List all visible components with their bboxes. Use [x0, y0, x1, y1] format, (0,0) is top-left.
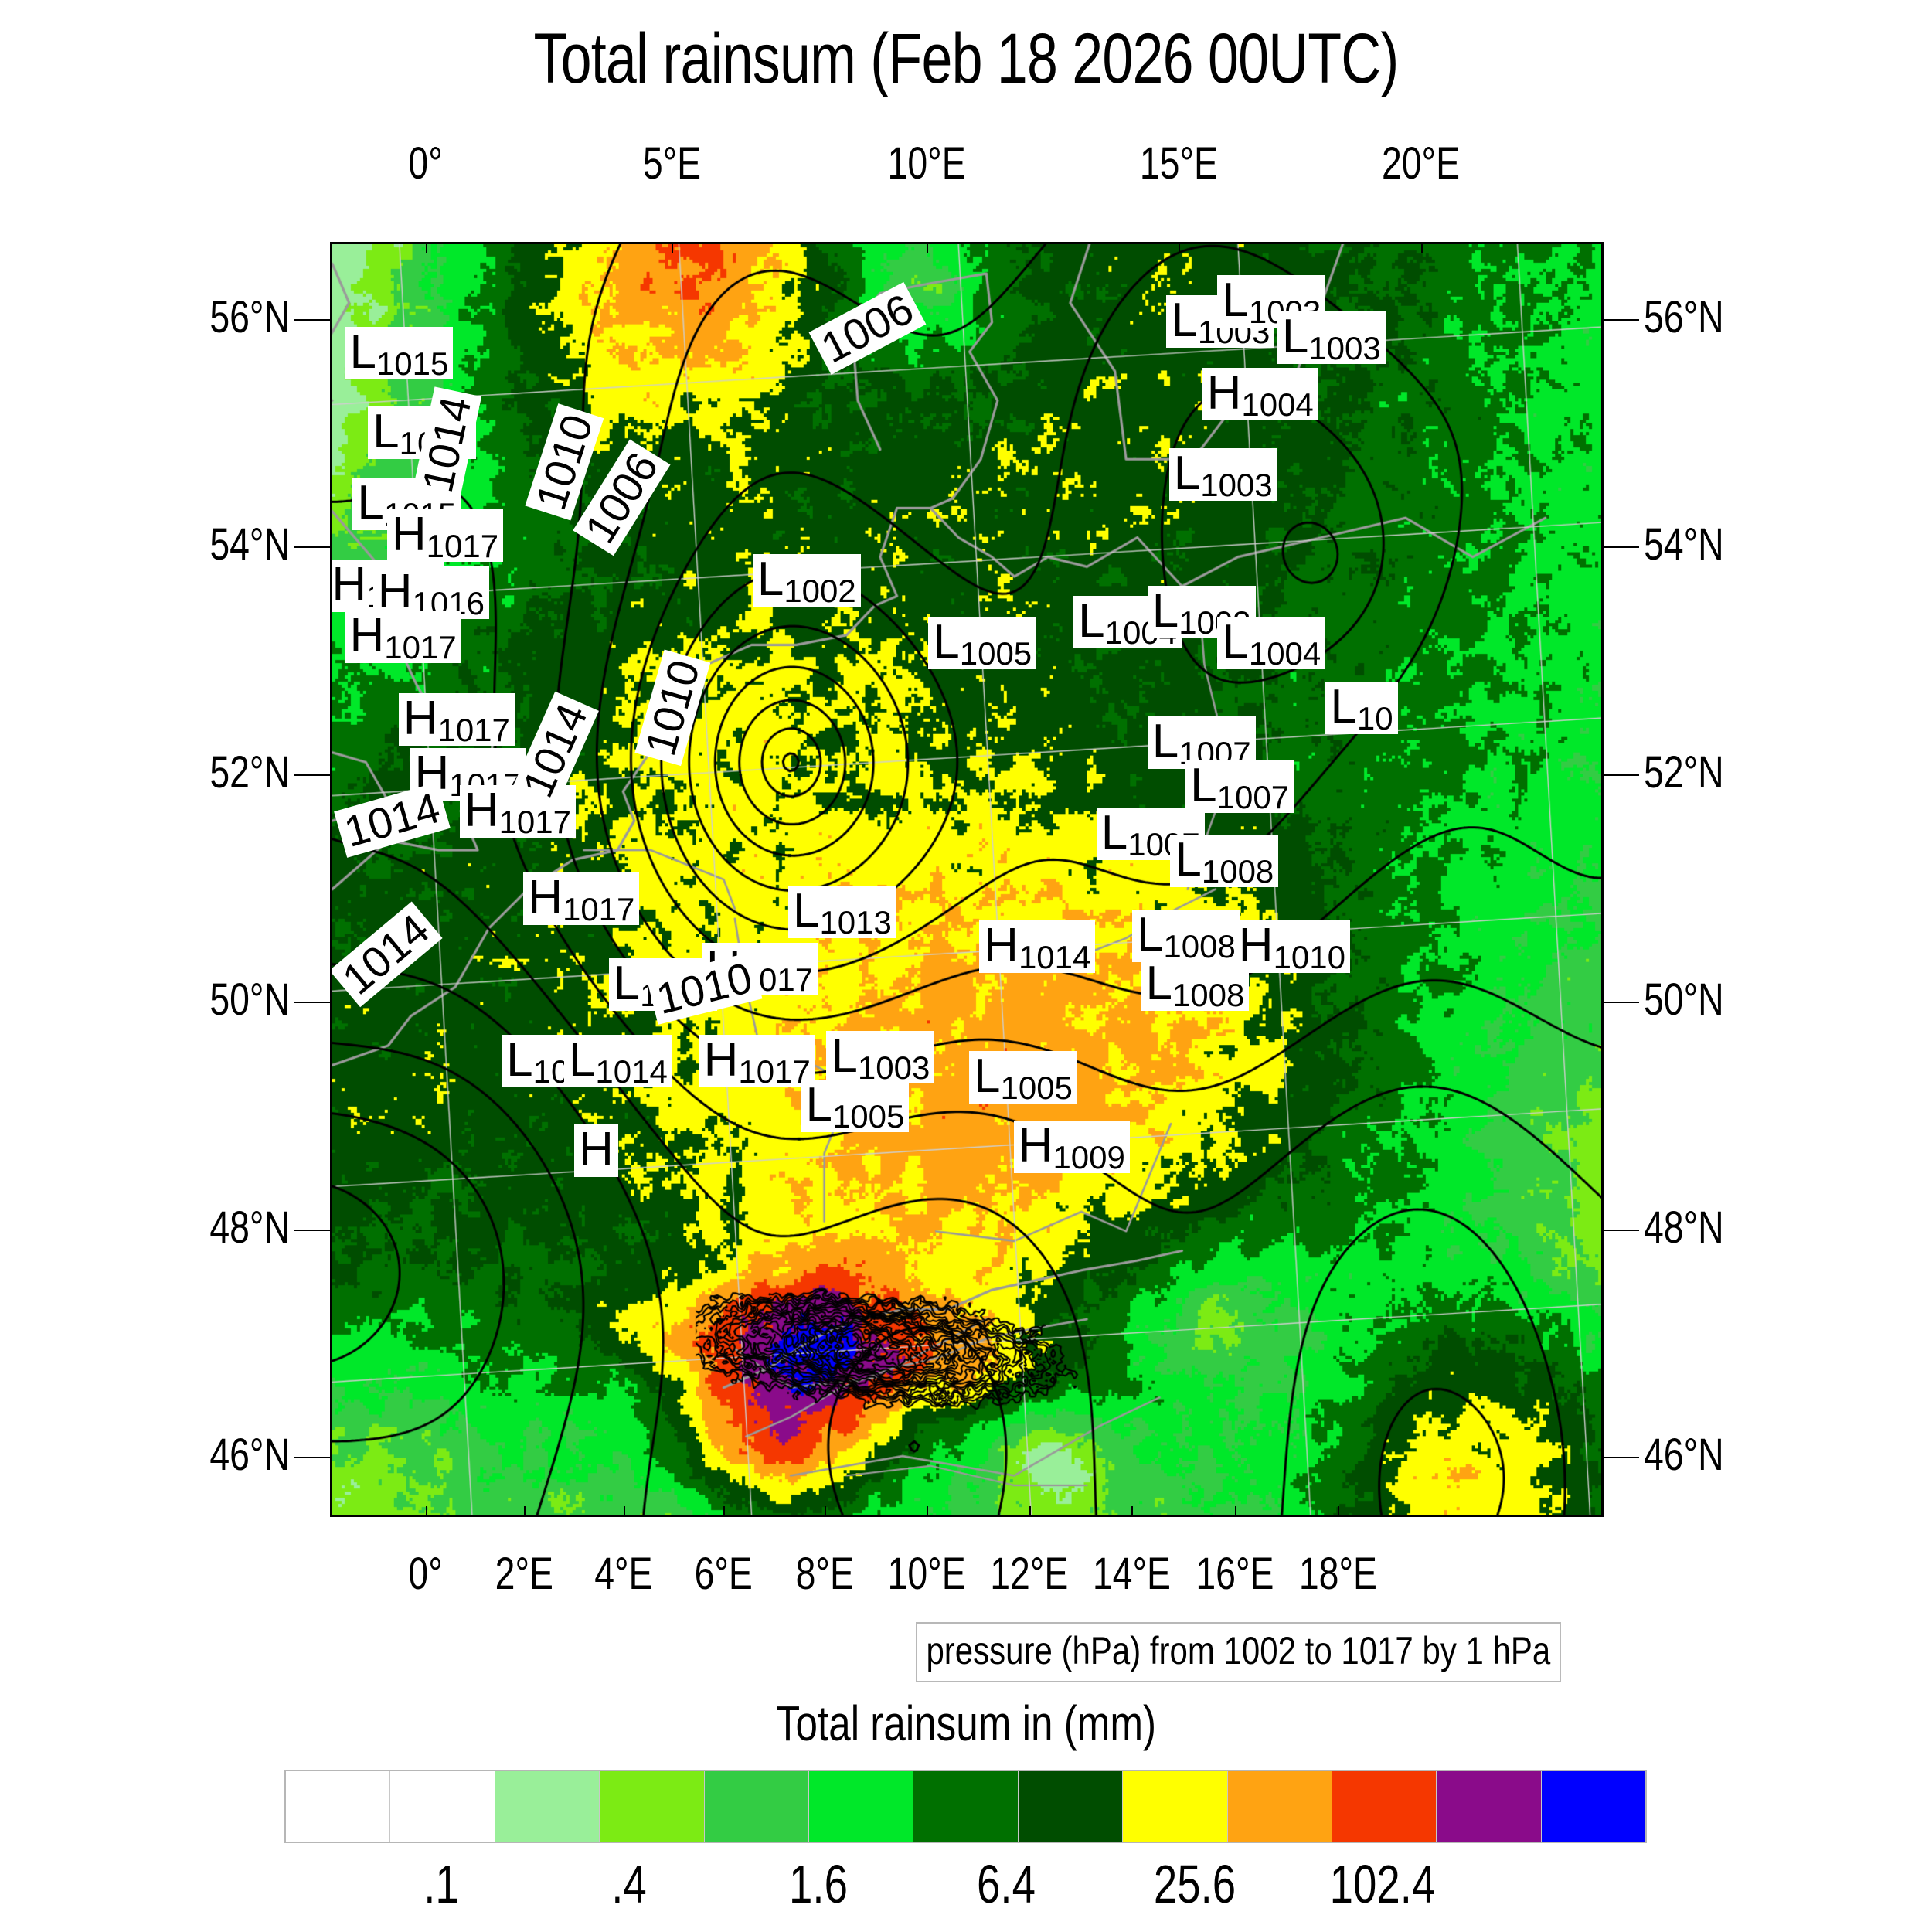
pressure-center-type: L	[1175, 833, 1201, 886]
pressure-center-h-19: H1014	[979, 920, 1095, 973]
pressure-center-type: H	[704, 1033, 739, 1087]
pressure-center-h-10: H1017	[523, 872, 639, 925]
tick-mark	[294, 1002, 330, 1003]
page-title: Total rainsum (Feb 18 2026 00UTC)	[213, 22, 1719, 97]
pressure-center-value: 1003	[1308, 330, 1380, 366]
lat-tick-left-1: 54°N	[58, 519, 290, 570]
pressure-center-l-0: L1015	[345, 327, 453, 379]
pressure-center-type: L	[1222, 615, 1248, 668]
pressure-center-value: 1015	[376, 345, 448, 382]
lat-tick-left-4: 48°N	[58, 1202, 290, 1253]
colorbar-cell-11[interactable]	[1437, 1771, 1541, 1842]
pressure-center-type: L	[1152, 715, 1179, 768]
pressure-center-l-22: L1005	[969, 1051, 1077, 1104]
pressure-center-value: 1005	[832, 1098, 904, 1134]
colorbar-cell-5[interactable]	[809, 1771, 913, 1842]
colorbar-cell-7[interactable]	[1019, 1771, 1123, 1842]
pressure-center-l-27: L1003	[1277, 311, 1386, 364]
pressure-center-type: H	[464, 784, 499, 837]
tick-mark	[927, 242, 928, 253]
tick-mark	[426, 1506, 427, 1517]
pressure-center-value: 1017	[499, 804, 571, 840]
tick-mark	[1604, 1230, 1639, 1231]
lat-tick-left-2: 52°N	[58, 747, 290, 798]
pressure-center-type: H	[1239, 919, 1274, 972]
colorbar-cell-6[interactable]	[913, 1771, 1018, 1842]
pressure-center-h-18: H1017	[699, 1035, 815, 1087]
tick-mark	[1604, 546, 1639, 548]
pressure-center-type: H	[1019, 1119, 1053, 1172]
tick-mark	[1604, 1002, 1639, 1003]
tick-mark	[927, 1506, 928, 1517]
colorbar-cell-2[interactable]	[495, 1771, 600, 1842]
tick-mark	[294, 546, 330, 548]
colorbar-cell-12[interactable]	[1542, 1771, 1645, 1842]
pressure-center-type: L	[805, 1078, 832, 1131]
colorbar-cell-4[interactable]	[705, 1771, 809, 1842]
pressure-center-l-37: L1008	[1132, 910, 1240, 962]
colorbar[interactable]	[284, 1770, 1647, 1843]
lat-tick-right-2: 52°N	[1644, 747, 1891, 798]
pressure-center-l-21: L1005	[801, 1080, 909, 1132]
pressure-center-type: L	[1137, 908, 1163, 961]
pressure-center-value: 1017	[437, 712, 509, 748]
pressure-center-value: 1009	[1053, 1139, 1124, 1175]
lat-tick-right-3: 50°N	[1644, 974, 1891, 1026]
pressure-center-l-36: L1008	[1170, 835, 1278, 887]
tick-mark	[1421, 242, 1423, 253]
colorbar-label-3: 6.4	[977, 1853, 1036, 1915]
tick-mark	[1604, 1457, 1639, 1458]
colorbar-label-4: 25.6	[1154, 1853, 1236, 1915]
tick-mark	[524, 1506, 526, 1517]
lat-tick-left-5: 46°N	[58, 1429, 290, 1481]
tick-mark	[294, 774, 330, 776]
pressure-center-type: H	[528, 871, 563, 924]
pressure-center-type: L	[793, 884, 819, 937]
colorbar-cell-9[interactable]	[1228, 1771, 1332, 1842]
pressure-center-type: H	[1207, 366, 1242, 420]
tick-mark	[1338, 1506, 1339, 1517]
pressure-center-type: L	[614, 957, 640, 1010]
pressure-center-type: L	[1152, 584, 1179, 638]
tick-mark	[1179, 242, 1180, 253]
colorbar-cell-8[interactable]	[1123, 1771, 1227, 1842]
tick-mark	[825, 1506, 826, 1517]
pressure-center-value: 1002	[784, 573, 855, 609]
pressure-center-type: L	[757, 553, 784, 606]
tick-mark	[294, 1230, 330, 1231]
tick-mark	[294, 319, 330, 321]
pressure-center-value: 1004	[1241, 386, 1313, 423]
pressure-center-l-34: L1007	[1185, 760, 1294, 813]
pressure-center-l-12: L1005	[928, 617, 1036, 669]
pressure-center-type: H	[392, 508, 427, 561]
colorbar-label-5: 102.4	[1330, 1853, 1436, 1915]
lat-tick-right-1: 54°N	[1644, 519, 1891, 570]
pressure-center-type: L	[933, 615, 959, 668]
map-plot-area[interactable]: L1015L1016L1015H1017H1017H1016H1017H1017…	[330, 242, 1604, 1517]
pressure-center-l-38: L1008	[1141, 958, 1249, 1011]
lat-tick-right-5: 46°N	[1644, 1429, 1891, 1481]
pressure-center-type: L	[569, 1033, 595, 1087]
pressure-center-type: H	[403, 692, 438, 745]
pressure-center-h-6: H1017	[345, 611, 461, 663]
pressure-center-h-3: H1017	[387, 509, 503, 562]
tick-mark	[624, 1506, 625, 1517]
pressure-center-type: L	[831, 1029, 857, 1083]
pressure-center-value: 1010	[1274, 939, 1345, 975]
tick-mark	[426, 242, 427, 253]
tick-mark	[1235, 1506, 1236, 1517]
pressure-center-value: 1014	[595, 1053, 667, 1090]
tick-mark	[294, 1457, 330, 1458]
pressure-center-type: L	[1171, 294, 1197, 347]
pressure-center-h-39: H1010	[1234, 920, 1350, 973]
pressure-center-h-28: H1004	[1202, 368, 1318, 420]
pressure-center-h-23: H1009	[1014, 1121, 1130, 1173]
pressure-center-type: L	[1222, 274, 1248, 327]
tick-mark	[1604, 774, 1639, 776]
pressure-center-value: 1013	[819, 904, 891, 940]
pressure-center-h-24: H	[574, 1124, 618, 1177]
pressure-center-type: H	[984, 919, 1019, 972]
pressure-contour-legend: pressure (hPa) from 1002 to 1017 by 1 hP…	[916, 1622, 1561, 1682]
pressure-center-type: H	[332, 558, 366, 611]
pressure-center-type: L	[1101, 806, 1128, 859]
pressure-center-type: H	[349, 609, 384, 662]
pressure-center-value: 1017	[384, 629, 456, 665]
lat-tick-left-0: 56°N	[58, 291, 290, 343]
tick-mark	[672, 242, 673, 253]
pressure-center-type: L	[357, 476, 383, 529]
colorbar-cell-1[interactable]	[390, 1771, 495, 1842]
pressure-center-value: 1005	[960, 635, 1032, 672]
colorbar-label-1: .4	[611, 1853, 647, 1915]
pressure-center-type: L	[1282, 310, 1308, 363]
pressure-center-type: L	[349, 325, 376, 379]
pressure-center-value: 1014	[1019, 939, 1090, 975]
colorbar-label-0: .1	[423, 1853, 459, 1915]
pressure-center-type: L	[372, 405, 399, 458]
pressure-center-l-17: L1014	[564, 1035, 672, 1087]
colorbar-title: Total rainsum in (mm)	[193, 1695, 1739, 1752]
pressure-center-h-7: H1017	[399, 693, 515, 746]
pressure-center-value: 1003	[1200, 467, 1272, 503]
pressure-center-value: 1007	[1217, 779, 1289, 815]
pressure-center-l-11: L1002	[753, 554, 861, 607]
pressure-center-type: L	[1330, 680, 1356, 733]
pressure-center-l-40: L10	[1325, 682, 1397, 734]
pressure-center-value: 1008	[1202, 853, 1274, 889]
tick-mark	[1604, 319, 1639, 321]
lon-tick-bottom-9: 18°E	[1152, 1548, 1523, 1600]
pressure-center-l-20: L1003	[826, 1031, 934, 1083]
colorbar-cell-0[interactable]	[286, 1771, 390, 1842]
pressure-center-l-13: L1013	[788, 886, 896, 938]
pressure-center-type: H	[579, 1123, 614, 1176]
lat-tick-left-3: 50°N	[58, 974, 290, 1026]
pressure-center-value: 1017	[738, 1053, 810, 1090]
lon-tick-top-4: 20°E	[1236, 138, 1607, 189]
lat-tick-right-4: 48°N	[1644, 1202, 1891, 1253]
pressure-center-type: L	[1145, 957, 1172, 1010]
pressure-center-type: L	[1078, 594, 1104, 648]
pressure-center-type: L	[1190, 759, 1216, 812]
pressure-center-l-32: L1004	[1217, 617, 1325, 669]
tick-mark	[1029, 1506, 1031, 1517]
tick-mark	[1131, 1506, 1133, 1517]
pressure-center-value: 1005	[1000, 1070, 1072, 1106]
pressure-center-value: 1008	[1172, 977, 1244, 1013]
lat-tick-right-0: 56°N	[1644, 291, 1891, 343]
colorbar-cell-10[interactable]	[1332, 1771, 1437, 1842]
pressure-center-type: L	[1174, 447, 1200, 500]
pressure-center-type: L	[974, 1049, 1000, 1103]
pressure-center-value: 10	[1357, 700, 1393, 736]
tick-mark	[723, 1506, 725, 1517]
pressure-center-value: 1017	[563, 891, 634, 927]
colorbar-label-2: 1.6	[789, 1853, 848, 1915]
pressure-center-type: L	[506, 1033, 532, 1087]
colorbar-tick-labels: .1.41.66.425.6102.4	[284, 1853, 1647, 1927]
colorbar-cell-3[interactable]	[600, 1771, 704, 1842]
pressure-center-l-29: L1003	[1169, 448, 1277, 501]
pressure-center-value: 1004	[1249, 635, 1321, 672]
